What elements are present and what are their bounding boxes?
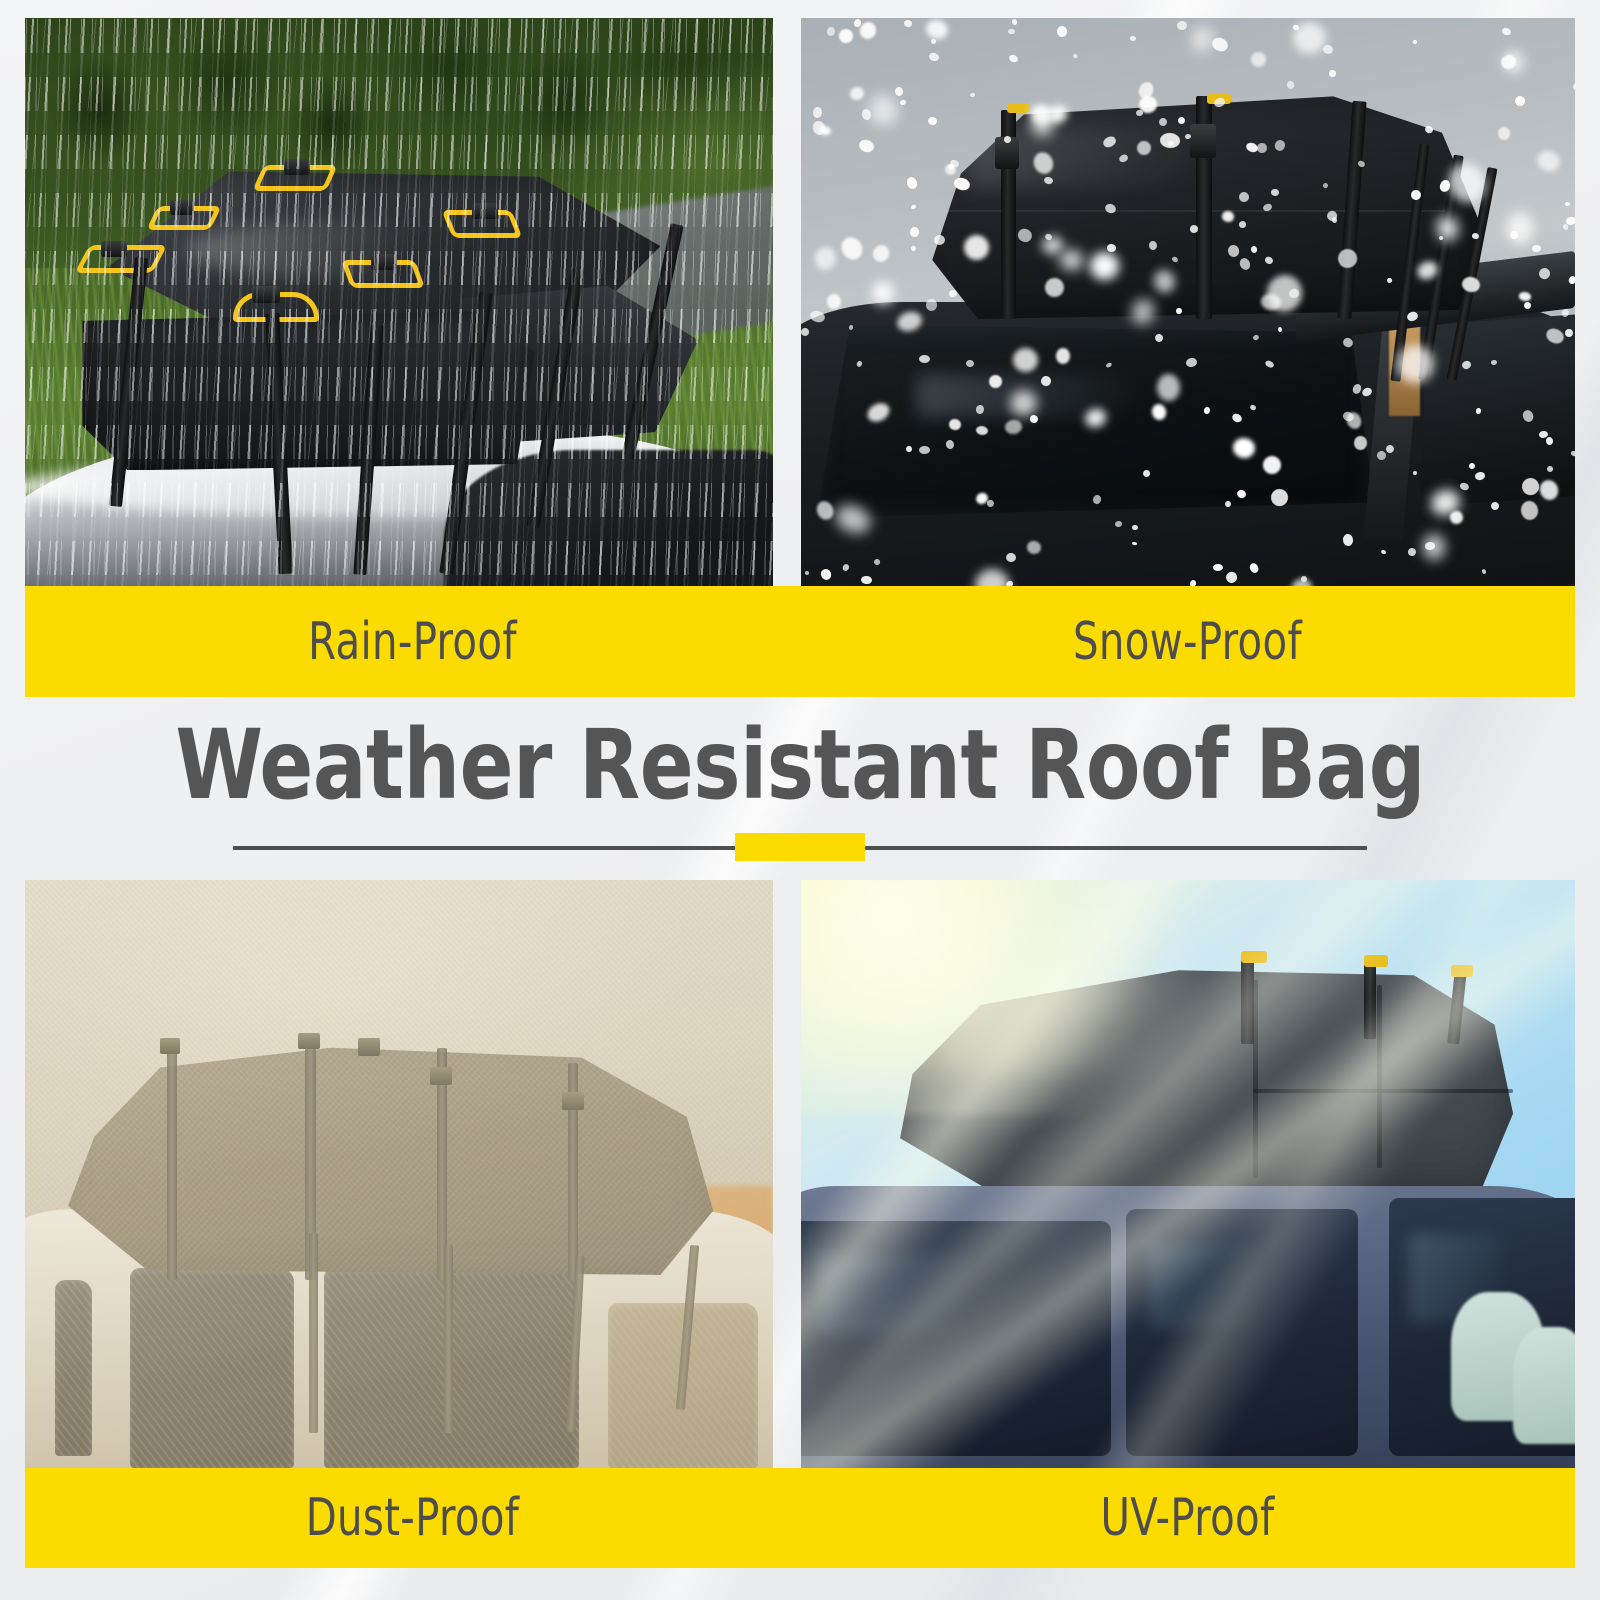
strap-buckle [358,1038,380,1056]
anchor-loop-icon [1007,103,1029,113]
tie-down-strap [309,1233,318,1433]
snow-scene [801,18,1575,586]
label-snow-proof: Snow-Proof [854,586,1521,697]
label-rain-proof: Rain-Proof [79,586,746,697]
rear-window [130,1268,295,1468]
cargo-bag-uv [894,951,1513,1198]
cargo-bag-dust [55,1033,713,1280]
side-window [1126,1209,1358,1456]
label-uv-proof: UV-Proof [854,1468,1521,1568]
seat [1513,1327,1575,1445]
bag-body [55,1033,713,1280]
divider-accent-block [735,833,865,861]
banner-top: Rain-Proof Snow-Proof [25,586,1575,697]
strap-buckle [252,286,280,303]
tie-down-strap [167,1043,177,1280]
rain-scene [25,18,773,586]
panel-rain-proof [25,18,773,586]
strap-buckle [562,1092,584,1110]
strap-buckle [101,241,127,257]
tie-down-strap [1241,955,1254,1044]
title-block: Weather Resistant Roof Bag [0,697,1600,880]
strap-buckle [1190,124,1216,158]
anchor-loop-icon [1364,955,1388,967]
strap-buckle [298,1033,320,1049]
bag-seam [1253,980,1258,1178]
uv-scene [801,880,1575,1468]
side-mirror [1451,438,1575,529]
strap-buckle [170,200,194,215]
rear-quarter-window [55,1280,92,1456]
product-feature-collage: Rain-Proof Snow-Proof Weather Resistant … [0,0,1600,1600]
bag-body [894,951,1513,1198]
tie-down-strap [1364,960,1376,1039]
cargo-bag-snow [909,92,1482,319]
bag-seam [1377,985,1382,1168]
rear-window [801,1221,1111,1456]
cargo-bag-rain [70,171,698,489]
panel-dust-proof [25,880,773,1468]
strap-buckle [284,159,310,175]
title-divider [233,831,1367,865]
page-title: Weather Resistant Roof Bag [175,717,1425,813]
anchor-loop-icon [1451,965,1473,977]
anchor-loop-icon [1241,951,1267,963]
windshield [816,325,1373,518]
strap-buckle [430,1067,452,1085]
panel-uv-proof [801,880,1575,1468]
anchor-loop-icon [1207,94,1231,104]
strap-buckle [371,254,397,270]
tie-down-strap [444,1245,453,1433]
banner-bottom: Dust-Proof UV-Proof [25,1468,1575,1568]
dust-scene [25,880,773,1468]
strap-buckle [160,1038,180,1054]
panel-snow-proof [801,18,1575,586]
bag-seam [1253,1089,1513,1093]
strap-buckle [995,137,1019,169]
label-dust-proof: Dust-Proof [79,1468,746,1568]
strap-buckle [472,203,498,219]
